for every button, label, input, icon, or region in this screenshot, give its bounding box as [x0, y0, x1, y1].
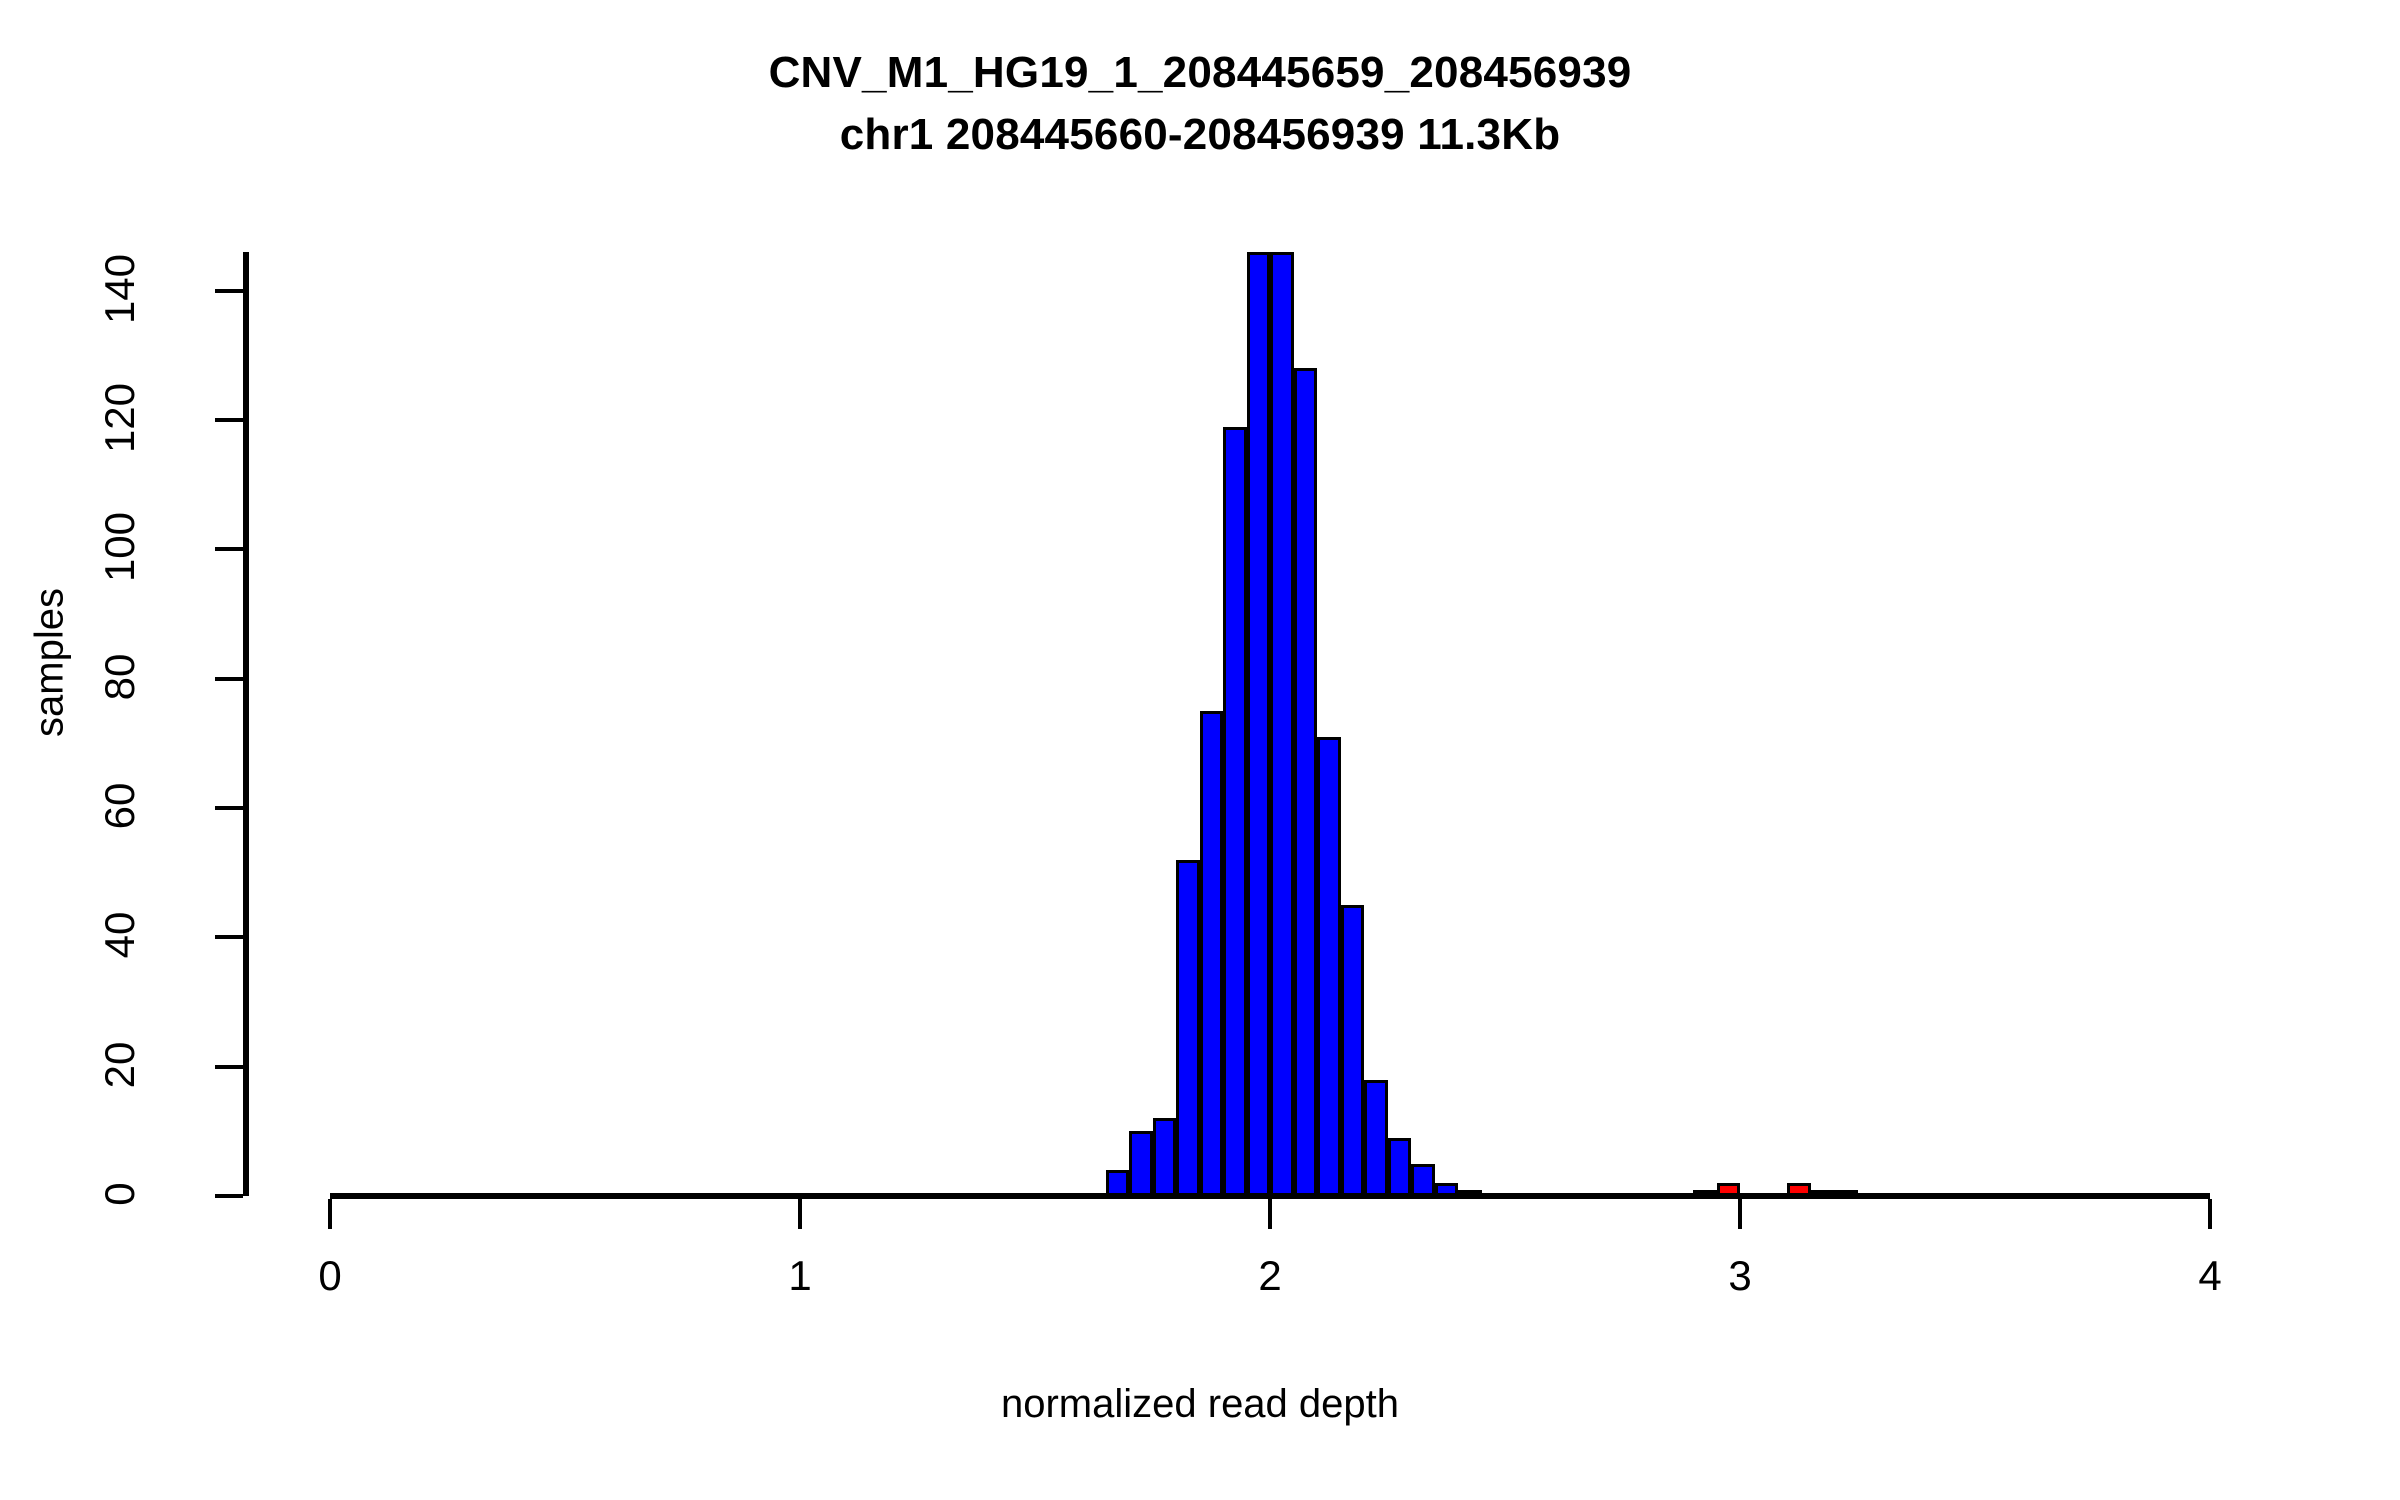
histogram-bar	[1294, 368, 1318, 1196]
histogram-bar	[1435, 1183, 1459, 1196]
histogram-bar	[1270, 252, 1294, 1196]
histogram-bar	[1693, 1190, 1717, 1196]
histogram-bar	[1317, 737, 1341, 1196]
histogram-bar	[1223, 427, 1247, 1196]
histogram-bar	[1176, 860, 1200, 1196]
x-axis-label: normalized read depth	[0, 1382, 2400, 1427]
plot-canvas: CNV_M1_HG19_1_208445659_208456939 chr1 2…	[0, 0, 2400, 1500]
histogram-bar	[1388, 1138, 1412, 1196]
histogram-bars	[0, 0, 2400, 1500]
histogram-bar	[1106, 1170, 1130, 1196]
histogram-bar	[1364, 1080, 1388, 1196]
histogram-bar	[1787, 1183, 1811, 1196]
histogram-bar	[1341, 905, 1365, 1196]
histogram-bar	[1200, 711, 1224, 1196]
y-axis-label: samples	[28, 463, 73, 863]
histogram-bar	[1717, 1183, 1741, 1196]
histogram-bar	[1129, 1131, 1153, 1196]
histogram-bar	[1458, 1190, 1482, 1196]
histogram-bar	[1411, 1164, 1435, 1196]
histogram-bar	[1153, 1118, 1177, 1196]
histogram-bar	[1834, 1190, 1858, 1196]
histogram-bar	[1247, 252, 1271, 1196]
histogram-bar	[1811, 1190, 1835, 1196]
